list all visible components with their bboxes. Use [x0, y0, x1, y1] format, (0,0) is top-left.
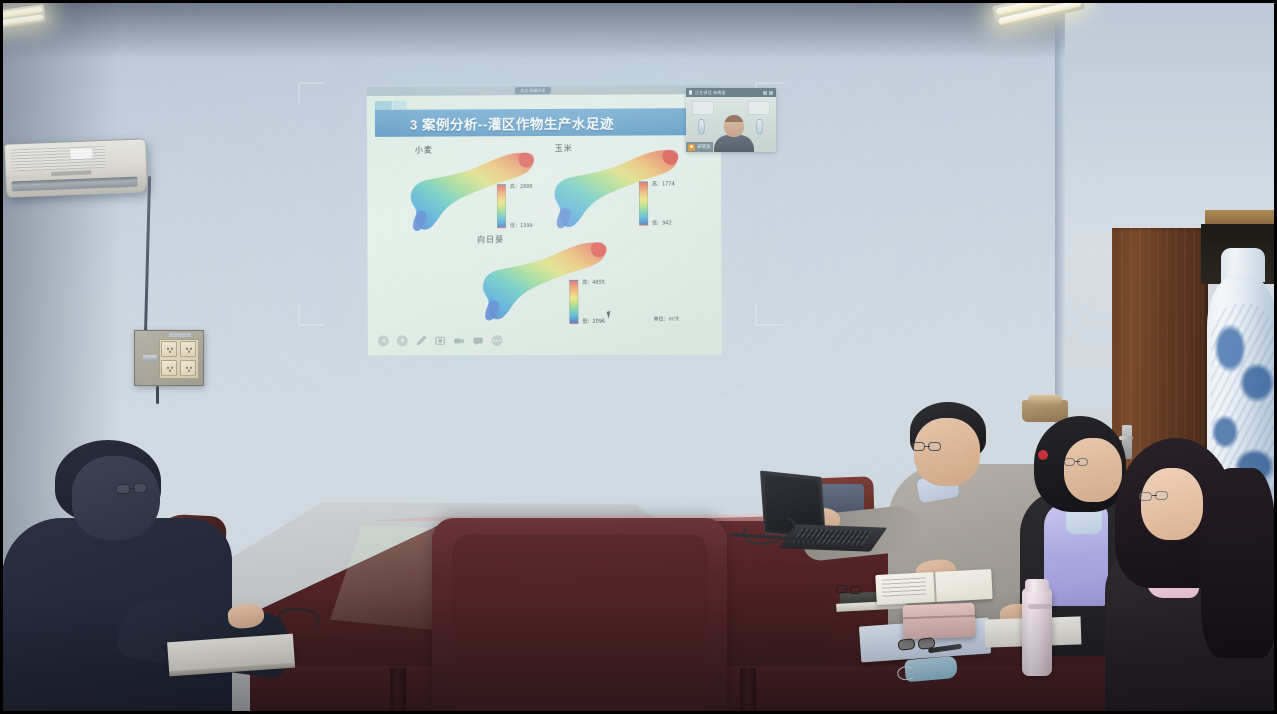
legend-colorbar-wheat [497, 184, 506, 228]
map-corn [549, 145, 682, 230]
cabinet-frame-top [1205, 210, 1277, 224]
projected-slide: 会议 屏幕共享 3 案例分析--灌区作物生产水足迹 小麦 [367, 85, 722, 356]
outlet-cable [156, 386, 159, 404]
video-icon[interactable] [454, 335, 465, 346]
attendee-left-head [72, 456, 160, 540]
power-outlet-panel[interactable] [134, 330, 204, 386]
previous-slide-icon[interactable] [378, 335, 389, 346]
legend-low-corn: 低：942 [652, 219, 672, 226]
map-wheat [405, 148, 537, 233]
pen-icon[interactable] [416, 335, 427, 346]
hair-tie [1038, 450, 1048, 460]
unit-note: 单位：m³/t [654, 316, 680, 323]
laptop-keyboard[interactable] [792, 529, 872, 546]
slide-title: 3 案例分析--灌区作物生产水足迹 [410, 112, 614, 133]
video-bg-vase-left [698, 119, 705, 135]
legend-high-sunflower: 高：4855 [582, 279, 605, 286]
network-ports[interactable] [143, 355, 157, 362]
attendee-laptop-ear [966, 446, 978, 462]
presenter-cursor [607, 310, 616, 319]
avatar [688, 144, 695, 151]
socket-2[interactable] [180, 341, 196, 357]
legend-high-wheat: 高：2888 [510, 183, 533, 190]
video-tile-header: 正在讲话 宋晓波 [686, 88, 776, 97]
video-tile-controls[interactable] [763, 91, 773, 95]
video-conference-tile[interactable]: 正在讲话 宋晓波 宋晓波 [686, 88, 776, 152]
legend-high-corn: 高：1774 [652, 180, 675, 187]
legend-colorbar-sunflower [569, 280, 578, 324]
microphone-icon [689, 90, 692, 95]
slide-body: 小麦 [367, 137, 722, 333]
slide-title-band: 3 案例分析--灌区作物生产水足迹 [375, 108, 713, 137]
socket-1[interactable] [161, 341, 177, 357]
wall-artifact-a: ▫ [308, 290, 311, 297]
video-bg-panel-left [692, 101, 714, 115]
comment-icon[interactable] [473, 335, 484, 346]
wall-corner-edge [1055, 0, 1065, 430]
more-icon[interactable] [492, 335, 503, 346]
attendee-front-head [1141, 468, 1203, 540]
socket-4[interactable] [180, 360, 196, 376]
screen-share-label: 会议 屏幕共享 [515, 87, 550, 94]
slide-app-bar: 会议 屏幕共享 [367, 85, 721, 96]
minimize-icon[interactable] [763, 91, 767, 95]
participant-name: 宋晓波 [697, 144, 711, 150]
next-slide-icon[interactable] [397, 335, 408, 346]
spotlight-icon[interactable] [435, 335, 446, 346]
conference-room-scene: ▫ 会议 屏幕共享 3 案例分析--灌区作物生产水足迹 小麦 [0, 0, 1277, 714]
legend-low-sunflower: 低：2096 [582, 318, 605, 325]
video-bg-vase-right [756, 119, 763, 135]
close-icon[interactable] [769, 91, 773, 95]
socket-3[interactable] [161, 360, 177, 376]
remote-participant-head [724, 115, 744, 137]
active-speaker-label: 正在讲话 宋晓波 [695, 90, 726, 96]
legend-colorbar-corn [639, 181, 648, 225]
slide-deco-square-4 [393, 101, 407, 110]
slide-surface: 会议 屏幕共享 3 案例分析--灌区作物生产水足迹 小麦 [367, 85, 722, 356]
air-conditioner [4, 138, 148, 197]
video-bg-panel-right [748, 101, 770, 115]
video-tile-footer: 宋晓波 [686, 142, 713, 152]
legend-low-wheat: 低：1399 [510, 222, 533, 229]
remote-participant-body [714, 135, 754, 152]
thermos-cap[interactable] [1025, 579, 1049, 592]
slide-toolbar[interactable] [378, 333, 503, 347]
